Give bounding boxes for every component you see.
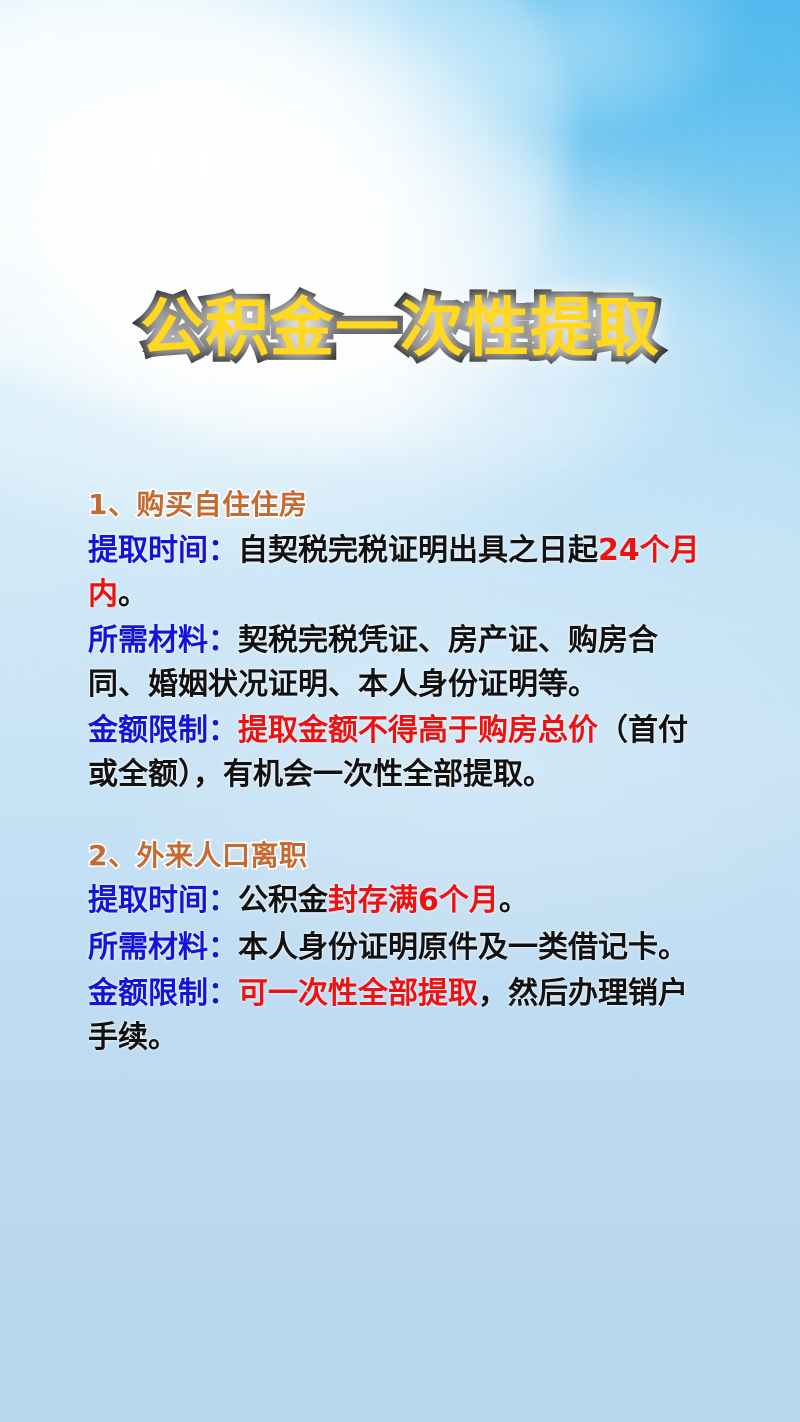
body-text: 本人身份证明原件及一类借记卡。 xyxy=(238,930,688,965)
title-container: 公积金一次性提取 xyxy=(0,297,800,361)
info-row: 提取时间：自契税完税证明出具之日起24个月内。 xyxy=(88,529,712,617)
body-text: 公积金 xyxy=(238,883,328,918)
info-row-label: 所需材料： xyxy=(88,623,238,658)
section-heading: 2、外来人口离职 xyxy=(88,838,712,875)
info-row: 所需材料：本人身份证明原件及一类借记卡。 xyxy=(88,926,712,970)
info-row-label: 提取时间： xyxy=(88,883,238,918)
sections-list: 1、购买自住住房提取时间：自契税完税证明出具之日起24个月内。所需材料：契税完税… xyxy=(88,487,712,1062)
info-row-label: 金额限制： xyxy=(88,713,238,748)
body-text: 。 xyxy=(499,883,529,918)
info-row-label: 所需材料： xyxy=(88,930,238,965)
info-row-label: 金额限制： xyxy=(88,976,238,1011)
highlight-text: 封存满6个月 xyxy=(328,883,499,918)
section-heading: 1、购买自住住房 xyxy=(88,487,712,524)
info-row: 金额限制：可一次性全部提取，然后办理销户手续。 xyxy=(88,972,712,1060)
info-row: 提取时间：公积金封存满6个月。 xyxy=(88,879,712,923)
body-text: 自契税完税证明出具之日起 xyxy=(238,533,598,568)
page-title: 公积金一次性提取 xyxy=(140,297,660,361)
highlight-text: 提取金额不得高于购房总价 xyxy=(238,713,598,748)
body-text: 。 xyxy=(118,577,148,612)
info-row: 金额限制：提取金额不得高于购房总价（首付或全额），有机会一次性全部提取。 xyxy=(88,709,712,797)
section-block: 1、购买自住住房提取时间：自契税完税证明出具之日起24个月内。所需材料：契税完税… xyxy=(88,487,712,798)
poster-content: 公积金一次性提取 1、购买自住住房提取时间：自契税完税证明出具之日起24个月内。… xyxy=(0,0,800,1422)
info-row: 所需材料：契税完税凭证、房产证、购房合同、婚姻状况证明、本人身份证明等。 xyxy=(88,619,712,707)
highlight-text: 可一次性全部提取 xyxy=(238,976,478,1011)
section-block: 2、外来人口离职提取时间：公积金封存满6个月。所需材料：本人身份证明原件及一类借… xyxy=(88,838,712,1060)
poster-canvas: 公积金一次性提取 1、购买自住住房提取时间：自契税完税证明出具之日起24个月内。… xyxy=(0,0,800,1422)
info-row-label: 提取时间： xyxy=(88,533,238,568)
